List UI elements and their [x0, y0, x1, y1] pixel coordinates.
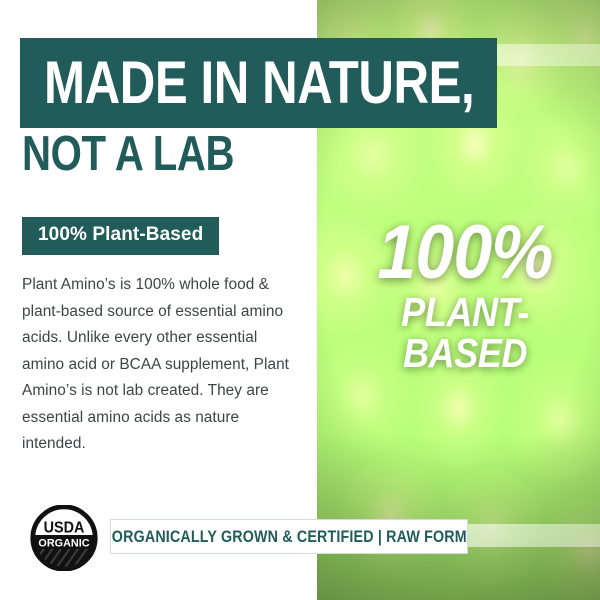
headline-line-1: MADE IN NATURE, — [44, 53, 474, 113]
usda-seal-top-label: USDA — [44, 519, 85, 537]
body-paragraph: Plant Amino’s is 100% whole food & plant… — [22, 272, 290, 458]
plant-based-badge-label: 100% Plant-Based — [38, 224, 203, 245]
usda-seal-bottom-label: ORGANIC — [38, 537, 89, 549]
plant-based-badge: 100% Plant-Based — [22, 217, 219, 255]
usda-organic-seal: USDA ORGANIC — [22, 505, 106, 571]
headline-line-2: NOT A LAB — [22, 130, 234, 179]
headline-banner: MADE IN NATURE, — [20, 38, 497, 128]
certification-bar: ORGANICALLY GROWN & CERTIFIED | RAW FORM — [110, 519, 468, 554]
promo-graphic: 100% PLANT-BASED MADE IN NATURE, NOT A L… — [0, 0, 600, 600]
usda-organic-seal-icon: USDA ORGANIC — [22, 505, 106, 571]
certification-bar-label: ORGANICALLY GROWN & CERTIFIED | RAW FORM — [111, 527, 466, 547]
